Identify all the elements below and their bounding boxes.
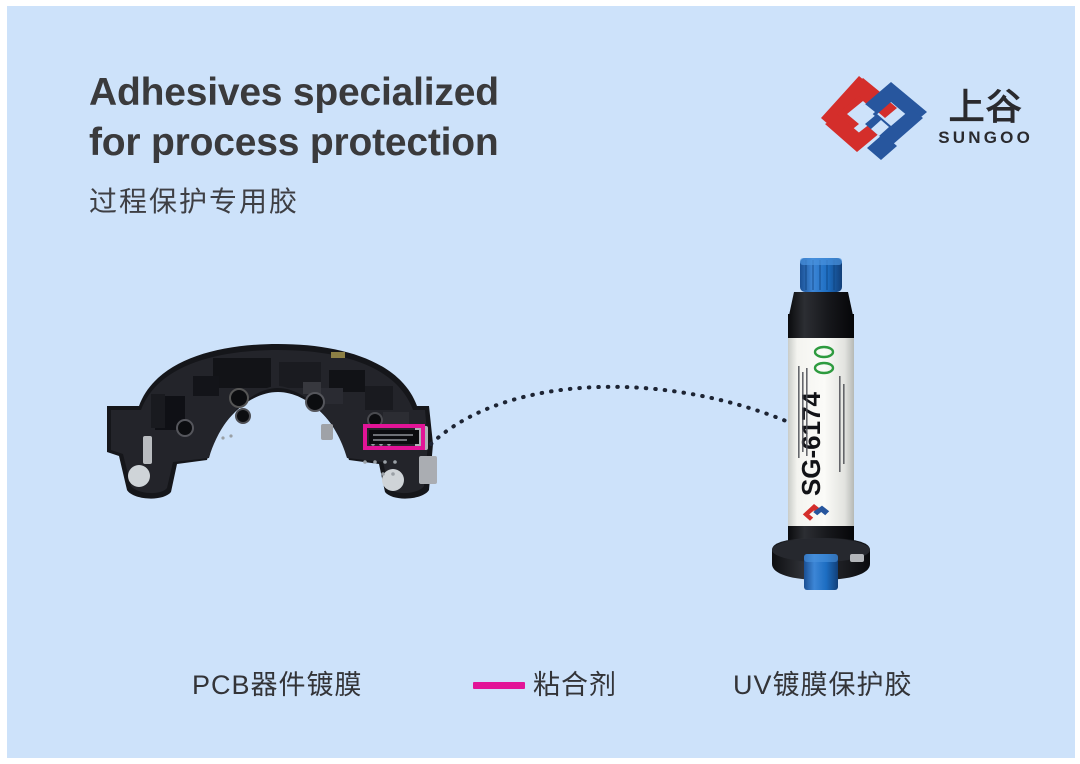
page-title-en: Adhesives specialized for process protec…	[89, 68, 709, 168]
syringe-cap	[800, 258, 842, 292]
connector-dotted-line	[427, 366, 817, 476]
adhesive-syringe-image: SG-6174	[762, 254, 880, 596]
brand-name-cn: 上谷	[949, 88, 1023, 126]
caption-adhesive: 粘合剂	[473, 668, 617, 702]
poster-root: Adhesives specialized for process protec…	[0, 0, 1080, 764]
sungoo-mark-icon	[819, 74, 929, 162]
syringe-product-code: SG-6174	[796, 391, 826, 496]
caption-pcb-coating: PCB器件镀膜	[192, 668, 363, 702]
brand-wordmark: 上谷 SUNGOO	[938, 88, 1033, 148]
caption-adhesive-label: 粘合剂	[533, 668, 617, 702]
pcb-board-image	[93, 340, 463, 508]
caption-uv-protective-adhesive: UV镀膜保护胶	[733, 668, 913, 702]
brand-logo: 上谷 SUNGOO	[819, 74, 1033, 162]
adhesive-color-swatch	[473, 682, 525, 689]
poster-panel: Adhesives specialized for process protec…	[7, 6, 1075, 758]
caption-row: PCB器件镀膜 粘合剂 UV镀膜保护胶	[7, 668, 1075, 714]
heading-block: Adhesives specialized for process protec…	[89, 68, 709, 219]
brand-name-en: SUNGOO	[938, 128, 1033, 148]
page-title-zh: 过程保护专用胶	[89, 185, 709, 219]
